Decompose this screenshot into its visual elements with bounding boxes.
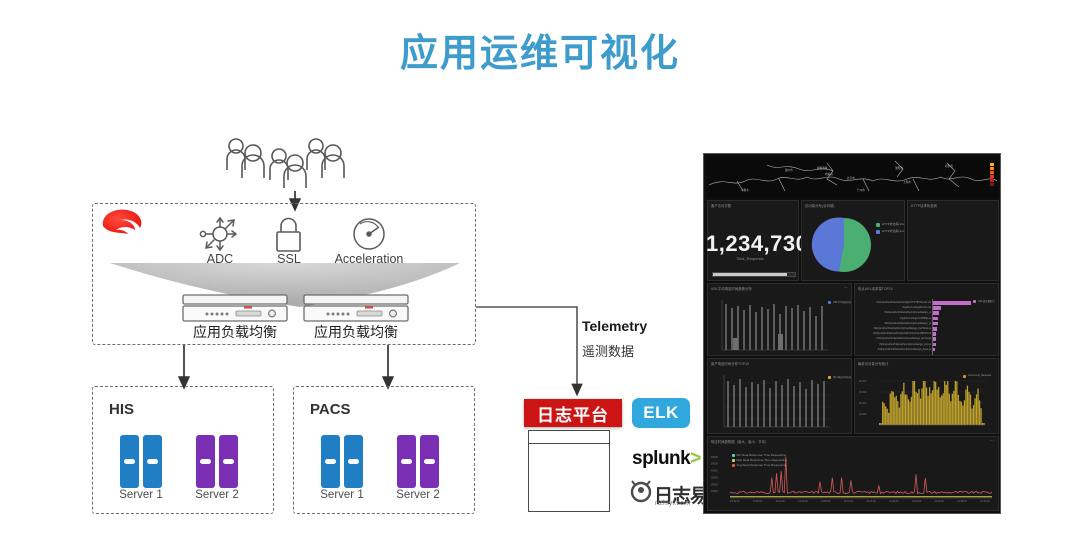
legend-swatch xyxy=(963,375,966,378)
histogram-bar xyxy=(902,391,903,425)
svg-text:14:15:00: 14:15:00 xyxy=(866,500,876,503)
server-slot xyxy=(325,459,336,464)
histogram-bar xyxy=(900,394,901,425)
histogram-bar xyxy=(940,397,941,425)
bar xyxy=(933,311,939,315)
legend-swatch xyxy=(876,230,880,234)
histogram-bar xyxy=(980,408,981,425)
histogram-bar xyxy=(943,393,944,425)
histogram-bar xyxy=(976,394,977,425)
legend-label: URL平均响应时间趋势分布 xyxy=(833,300,851,304)
response-time-panel[interactable]: 响应时间趋势图（最大、最小、平均） ⋯ 10000200003000040000… xyxy=(707,436,999,511)
histogram-bar xyxy=(971,409,972,425)
server-label-his-1: Server 1 xyxy=(108,489,174,501)
histogram-bar xyxy=(894,397,895,425)
rizhiyi-url: rizhiyi.com xyxy=(655,500,690,507)
svg-text:30,000: 30,000 xyxy=(859,391,867,394)
bar xyxy=(933,301,971,305)
svg-text:14:10:00: 14:10:00 xyxy=(844,500,854,503)
slide-canvas: 应用运维可视化 xyxy=(0,0,1080,541)
bar xyxy=(933,343,936,347)
server-icon-pacs-2 xyxy=(397,435,439,488)
server-label-his-2: Server 2 xyxy=(184,489,250,501)
bar xyxy=(933,327,937,331)
server-slot xyxy=(200,459,211,464)
svg-text:14:05:00: 14:05:00 xyxy=(821,500,831,503)
status-pie-chart xyxy=(802,201,906,279)
histogram-bar xyxy=(882,402,883,425)
svg-text:银川市: 银川市 xyxy=(785,168,793,172)
server-blade xyxy=(397,435,416,488)
svg-text:北京市: 北京市 xyxy=(847,176,855,180)
bar-category-label: /hdc/prod/uri/hds/swf/script/medias/go_j… xyxy=(873,311,931,314)
server-blade xyxy=(120,435,139,488)
panel-title: 每秒访问量分布统计 xyxy=(858,361,889,366)
histogram-bar xyxy=(932,390,933,425)
histogram-bar xyxy=(935,382,936,425)
histogram-bar xyxy=(903,383,904,425)
ssl-label: SSL xyxy=(255,252,323,266)
y-axis-line xyxy=(932,299,933,355)
bar xyxy=(933,337,936,341)
server-slot xyxy=(424,459,435,464)
server-icon-pacs-1 xyxy=(321,435,363,488)
histogram-bar xyxy=(941,395,942,425)
bar xyxy=(933,306,941,310)
svg-text:60000: 60000 xyxy=(711,456,718,459)
arrow-telemetry xyxy=(476,307,577,390)
svg-text:10,000: 10,000 xyxy=(859,413,867,416)
panel-title: 访问量分布(访问端) xyxy=(805,203,835,208)
svg-text:内蒙古: 内蒙古 xyxy=(825,172,833,176)
bar-category-label: /hdc/prod/uri/hds/swf/script/medias/go_l… xyxy=(873,327,931,330)
legend-label: Concurrent_Requests xyxy=(968,374,991,377)
server-blade xyxy=(219,435,238,488)
panel-menu-icon[interactable]: ⋯ xyxy=(844,285,848,290)
histogram-bar xyxy=(974,398,975,425)
top-url-bar-chart: /hdc/prod/uri/hds/swf/config/NJYSTIP.00.… xyxy=(855,295,1000,355)
bar xyxy=(933,322,938,326)
server-blade xyxy=(420,435,439,488)
empty-panel[interactable]: HTTP请求状态码 xyxy=(907,200,999,281)
histogram-bar xyxy=(884,403,885,425)
svg-text:20,000: 20,000 xyxy=(859,402,867,405)
histogram-bar xyxy=(915,392,916,425)
panel-title: 热点URL请求量TOP10 xyxy=(858,286,893,291)
histogram-bar xyxy=(917,393,918,425)
load-balancer-label-2: 应用负载均衡 xyxy=(296,322,416,342)
svg-text:14:25:00: 14:25:00 xyxy=(912,500,922,503)
url-trend-chart xyxy=(708,294,853,356)
histogram-bar xyxy=(911,397,912,425)
histogram-bar xyxy=(947,381,948,425)
histogram-bar xyxy=(885,406,886,425)
bar-category-label: /hdc/prod/uri/hds/swf/script/medias/go_b… xyxy=(873,348,931,351)
histogram-bar xyxy=(973,405,974,425)
histogram-bar xyxy=(956,381,957,425)
histogram-bar xyxy=(914,381,915,425)
histogram-bar xyxy=(959,401,960,425)
top-url-panel[interactable]: 热点URL请求量TOP10 /hdc/prod/uri/hds/swf/conf… xyxy=(854,283,999,356)
legend-swatch xyxy=(828,376,831,379)
svg-text:沈阳市: 沈阳市 xyxy=(895,166,903,170)
histogram-bar xyxy=(938,387,939,425)
histogram-bar xyxy=(977,389,978,425)
svg-text:20000: 20000 xyxy=(711,483,718,486)
server-slot xyxy=(147,459,158,464)
svg-text:10000: 10000 xyxy=(711,490,718,493)
histogram-bar xyxy=(908,399,909,425)
histogram-bar xyxy=(896,396,897,425)
server-blade xyxy=(344,435,363,488)
concurrency-histogram: 40,00030,00020,00010,000 xyxy=(855,369,1000,433)
bar xyxy=(933,348,935,352)
acceleration-label: Acceleration xyxy=(323,252,415,266)
bar-category-label: /cgi/bin/xml/cgi/bin/xml.js xyxy=(873,306,931,309)
histogram-bar xyxy=(961,402,962,425)
histogram-bar xyxy=(905,395,906,425)
histogram-bar xyxy=(918,389,919,425)
panel-title: 用户响应时间分布TOP10 xyxy=(711,361,749,366)
panel-title: HTTP请求状态码 xyxy=(911,203,937,208)
svg-text:13:50:00: 13:50:00 xyxy=(753,500,763,503)
histogram-bar xyxy=(937,389,938,425)
bar xyxy=(933,317,938,321)
histogram-bar xyxy=(950,401,951,425)
user-group-2 xyxy=(270,149,306,188)
panel-menu-icon[interactable]: ⋯ xyxy=(990,438,994,443)
histogram-bar xyxy=(970,395,971,425)
splunk-logo: splunk> xyxy=(632,448,701,470)
legend-swatch xyxy=(732,454,735,457)
histogram-bar xyxy=(955,381,956,425)
histogram-bar xyxy=(929,387,930,425)
svg-text:14:00:00: 14:00:00 xyxy=(775,500,785,503)
server-slot xyxy=(401,459,412,464)
legend-swatch xyxy=(732,459,735,462)
legend-label: Max Real Response Time Requesting xyxy=(737,458,787,462)
bar-category-label: /hdc/prod/uri/hds/swf/script/GET/common/… xyxy=(873,332,931,335)
zone-title-pacs: PACS xyxy=(310,401,351,418)
rizhiyi-mark xyxy=(632,481,650,501)
server-icon-his-1 xyxy=(120,435,162,488)
geo-map-panel[interactable]: 乌鲁木银川市 呼和浩特内蒙古 北京市沈阳市 上海市广州市 哈尔滨 xyxy=(707,157,999,198)
histogram-bar xyxy=(891,391,892,425)
bar-category-label: /cgi/bin/xml/cgi/xml/MMjs.js xyxy=(873,317,931,320)
histogram-bar xyxy=(946,385,947,425)
legend-swatch xyxy=(973,300,976,303)
bar-category-label: /hdc/prod/uri/hds/swf/config/NJYSTIP.00.… xyxy=(873,301,931,304)
svg-text:乌鲁木: 乌鲁木 xyxy=(741,188,749,192)
map-legend-scale xyxy=(990,163,994,186)
histogram-svg: 40,00030,00020,00010,000 xyxy=(855,369,1000,433)
histogram-bar xyxy=(899,408,900,425)
svg-text:14:40:00: 14:40:00 xyxy=(980,500,990,503)
legend-swatch xyxy=(732,464,735,467)
elk-badge[interactable]: ELK xyxy=(632,398,690,428)
histogram-bar xyxy=(888,413,889,425)
histogram-bar xyxy=(927,396,928,425)
svg-text:14:00:00: 14:00:00 xyxy=(798,500,808,503)
legend-label: HTTP状态码 2xx xyxy=(882,222,904,226)
telemetry-label-en: Telemetry xyxy=(582,318,647,334)
server-slot xyxy=(124,459,135,464)
histogram-bar xyxy=(926,387,927,425)
histogram-bar xyxy=(962,405,963,425)
bar-category-label: /hdc/prod/uri/hds/swf/script/medias/go_k… xyxy=(873,337,931,340)
panel-scrollbar[interactable] xyxy=(712,272,796,277)
legend-label: Avg Real Response Time Requesting xyxy=(737,463,787,467)
histogram-bar xyxy=(909,402,910,425)
telemetry-label-cn: 遥测数据 xyxy=(582,341,634,360)
histogram-bar xyxy=(958,395,959,425)
histogram-bar xyxy=(890,394,891,425)
histogram-bar xyxy=(930,393,931,425)
svg-text:30000: 30000 xyxy=(711,476,718,479)
histogram-bar xyxy=(906,395,907,425)
svg-text:上海市: 上海市 xyxy=(903,180,911,184)
histogram-bar xyxy=(934,381,935,425)
histogram-bar xyxy=(897,401,898,425)
histogram-bar xyxy=(893,392,894,425)
total-requests-value: 1,234,730 xyxy=(706,231,802,257)
legend-label: HTTP状态码 4xx xyxy=(882,229,904,233)
user-trend-chart xyxy=(708,369,853,433)
svg-text:14:35:00: 14:35:00 xyxy=(957,500,967,503)
page-title: 应用运维可视化 xyxy=(0,22,1080,77)
total-requests-caption: Total_Requests xyxy=(736,256,764,261)
histogram-bar xyxy=(921,388,922,425)
splunk-chevron-icon: > xyxy=(690,448,701,469)
histogram-bar xyxy=(953,391,954,425)
status-ratio-panel[interactable]: 访问量分布(访问端) HTTP状态码 2xx HTTP状态码 4xx xyxy=(801,200,905,281)
log-analytics-dashboard[interactable]: 乌鲁木银川市 呼和浩特内蒙古 北京市沈阳市 上海市广州市 哈尔滨 客户访问次 xyxy=(703,153,1001,514)
legend-swatch xyxy=(876,223,880,227)
user-group-1 xyxy=(227,139,264,178)
histogram-bar xyxy=(887,409,888,425)
server-slot xyxy=(223,459,234,464)
bar xyxy=(933,332,936,336)
histogram-bar xyxy=(964,400,965,425)
url-trend-panel[interactable]: URL平均响应时间趋势分布 ⋯ xyxy=(707,283,852,356)
histogram-bar xyxy=(920,399,921,425)
server-slot xyxy=(348,459,359,464)
user-trend-panel[interactable]: 用户响应时间分布TOP10 xyxy=(707,358,852,434)
histogram-bar xyxy=(965,390,966,425)
total-requests-panel[interactable]: 客户访问次数 1,234,730 Total_Requests xyxy=(707,200,799,281)
legend-swatch xyxy=(828,301,831,304)
panel-title: URL平均响应时间趋势分布 xyxy=(711,286,752,291)
response-time-legend: Min Real Response Time Requesting Max Re… xyxy=(732,453,787,467)
histogram-bar xyxy=(912,381,913,425)
geo-map-svg: 乌鲁木银川市 呼和浩特内蒙古 北京市沈阳市 上海市广州市 哈尔滨 xyxy=(707,157,999,198)
svg-text:40000: 40000 xyxy=(711,470,718,473)
svg-text:广州市: 广州市 xyxy=(857,188,865,192)
histogram-panel[interactable]: 每秒访问量分布统计 40,00030,00020,00010,000 Concu… xyxy=(854,358,999,434)
legend-label: URL请求量统计 xyxy=(978,299,995,303)
bar-category-label: /hdc/prod/uri/hds/swf/script/medias/go_j… xyxy=(873,322,931,325)
svg-text:14:20:00: 14:20:00 xyxy=(889,500,899,503)
server-label-pacs-2: Server 2 xyxy=(385,489,451,501)
server-blade xyxy=(143,435,162,488)
histogram-bar xyxy=(944,381,945,425)
panel-title: 客户访问次数 xyxy=(711,203,731,208)
histogram-bar xyxy=(923,381,924,425)
histogram-bar xyxy=(979,400,980,425)
svg-text:50000: 50000 xyxy=(711,463,718,466)
histogram-bar xyxy=(949,394,950,425)
user-group-3 xyxy=(307,139,344,178)
server-blade xyxy=(321,435,340,488)
histogram-bar xyxy=(968,392,969,425)
splunk-wordmark: splunk xyxy=(632,448,690,469)
panel-title: 响应时间趋势图（最大、最小、平均） xyxy=(711,439,769,444)
legend-label: Min Real Response Time Requesting xyxy=(737,453,787,457)
svg-text:13:40:00: 13:40:00 xyxy=(730,500,740,503)
histogram-bar xyxy=(967,386,968,425)
svg-text:呼和浩特: 呼和浩特 xyxy=(817,166,828,170)
adc-label: ADC xyxy=(186,252,254,266)
server-blade xyxy=(196,435,215,488)
svg-text:哈尔滨: 哈尔滨 xyxy=(945,164,953,168)
bar-category-label: /hdc/prod/uri/hds/swf/script/medias/go_j… xyxy=(873,343,931,346)
load-balancer-label-1: 应用负载均衡 xyxy=(175,322,295,342)
svg-text:40,000: 40,000 xyxy=(859,380,867,383)
card-header-bar xyxy=(529,431,609,444)
histogram-bar xyxy=(924,381,925,425)
legend-label: 用户响应时间分布TOP10 xyxy=(833,375,851,379)
zone-title-his: HIS xyxy=(109,401,134,418)
svg-text:14:30:00: 14:30:00 xyxy=(935,500,945,503)
log-platform-badge[interactable]: 日志平台 xyxy=(524,399,622,427)
server-icon-his-2 xyxy=(196,435,238,488)
histogram-bar xyxy=(952,394,953,425)
log-platform-card xyxy=(528,430,610,512)
server-label-pacs-1: Server 1 xyxy=(309,489,375,501)
